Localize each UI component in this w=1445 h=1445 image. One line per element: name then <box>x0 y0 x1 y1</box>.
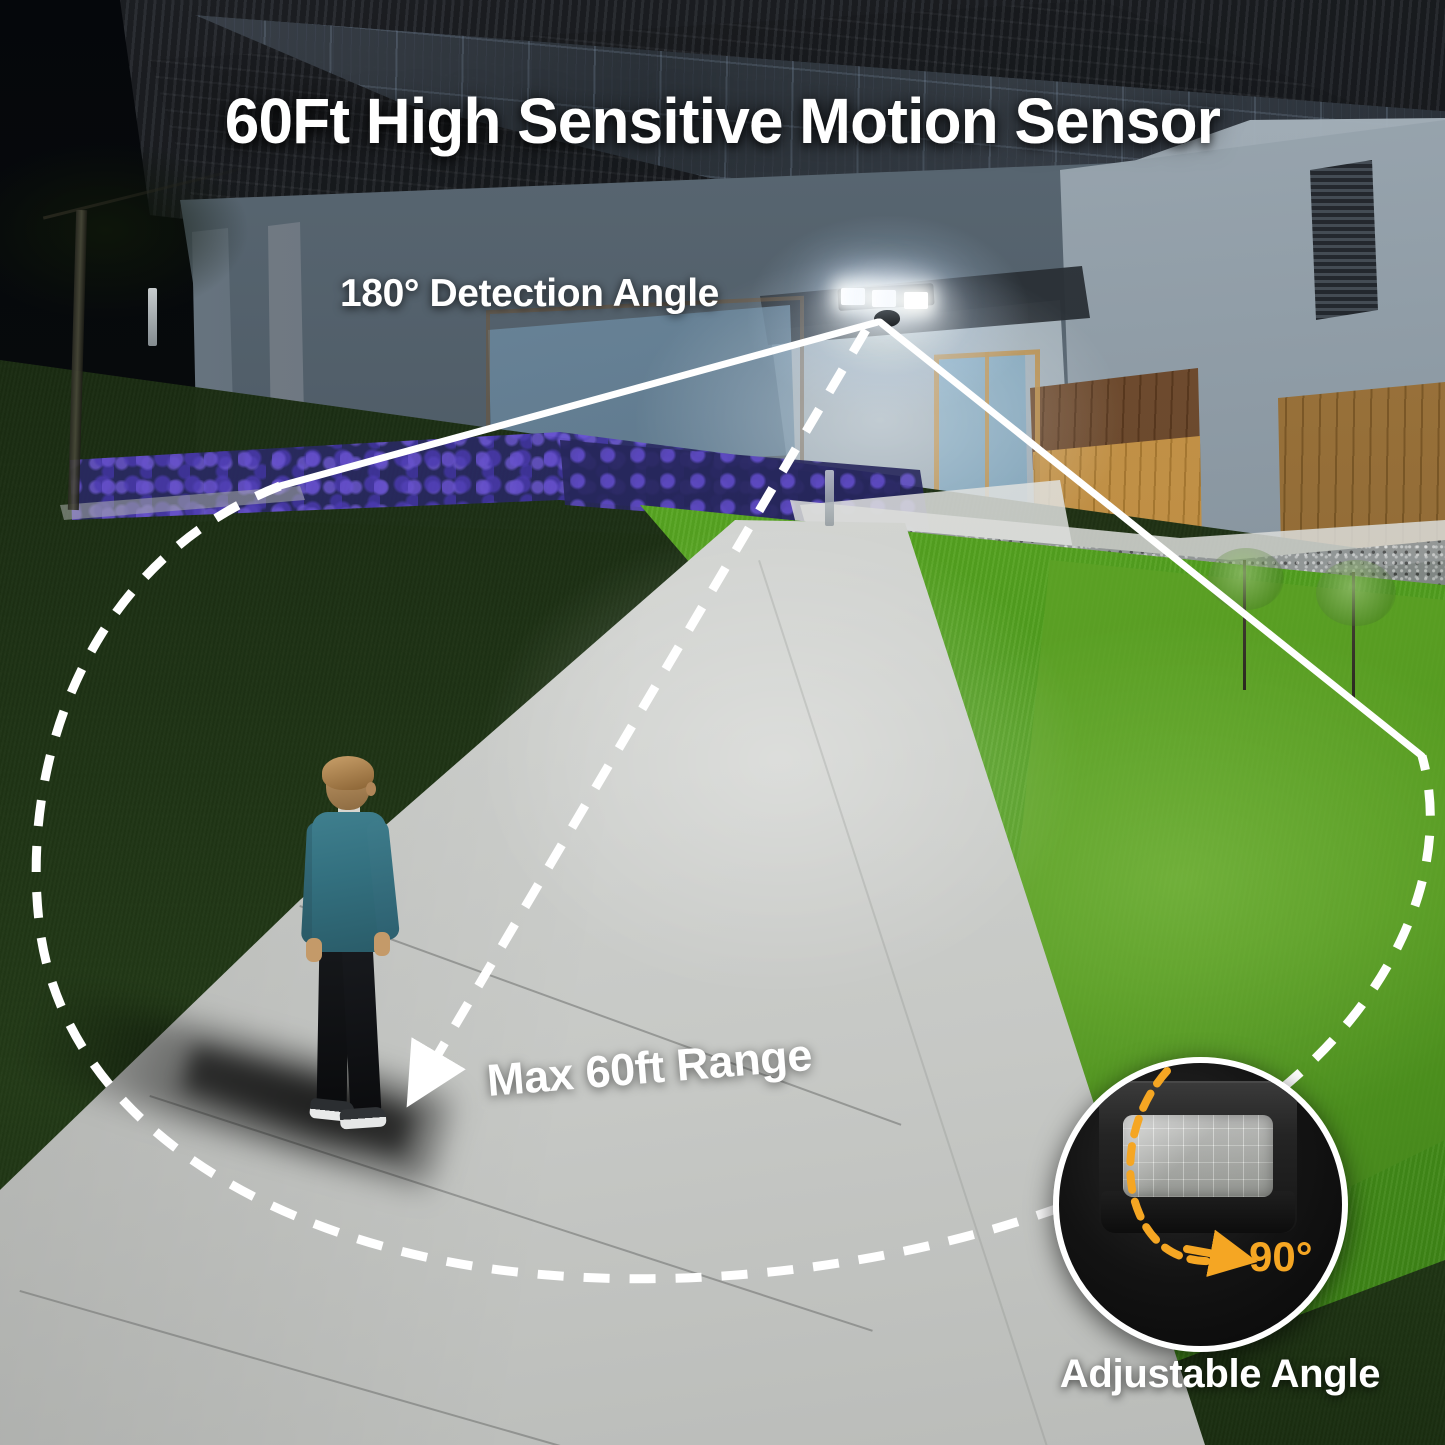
adjustable-angle-inset: 90° <box>1053 1057 1348 1352</box>
person-hand-left <box>306 938 322 962</box>
motion-sensor-head-icon <box>874 309 901 327</box>
led-panel-icon <box>841 288 865 305</box>
person-ear <box>366 782 376 796</box>
page-title: 60Ft High Sensitive Motion Sensor <box>22 84 1424 158</box>
tree-canopy-left <box>0 140 250 320</box>
product-feature-image: 90° 60Ft High Sensitive Motion Sensor 18… <box>0 0 1445 1445</box>
led-panel-icon <box>872 290 896 307</box>
walking-person <box>288 760 408 1150</box>
person-shoe-right <box>339 1106 386 1129</box>
path-bollard-light <box>825 470 834 526</box>
sapling-foliage <box>1316 560 1396 626</box>
detection-angle-label: 180° Detection Angle <box>340 272 719 316</box>
inset-caption: Adjustable Angle <box>1010 1352 1430 1397</box>
rotation-arc-dashed <box>1130 1071 1214 1261</box>
person-hand-right <box>374 932 390 956</box>
rotation-arc-overlay: 90° <box>1059 1063 1342 1346</box>
inset-angle-value: 90° <box>1249 1233 1313 1280</box>
led-panel-icon <box>904 292 928 309</box>
sapling-foliage <box>1208 548 1284 610</box>
security-light-fixture <box>838 286 934 334</box>
path-bollard-light <box>148 288 157 346</box>
